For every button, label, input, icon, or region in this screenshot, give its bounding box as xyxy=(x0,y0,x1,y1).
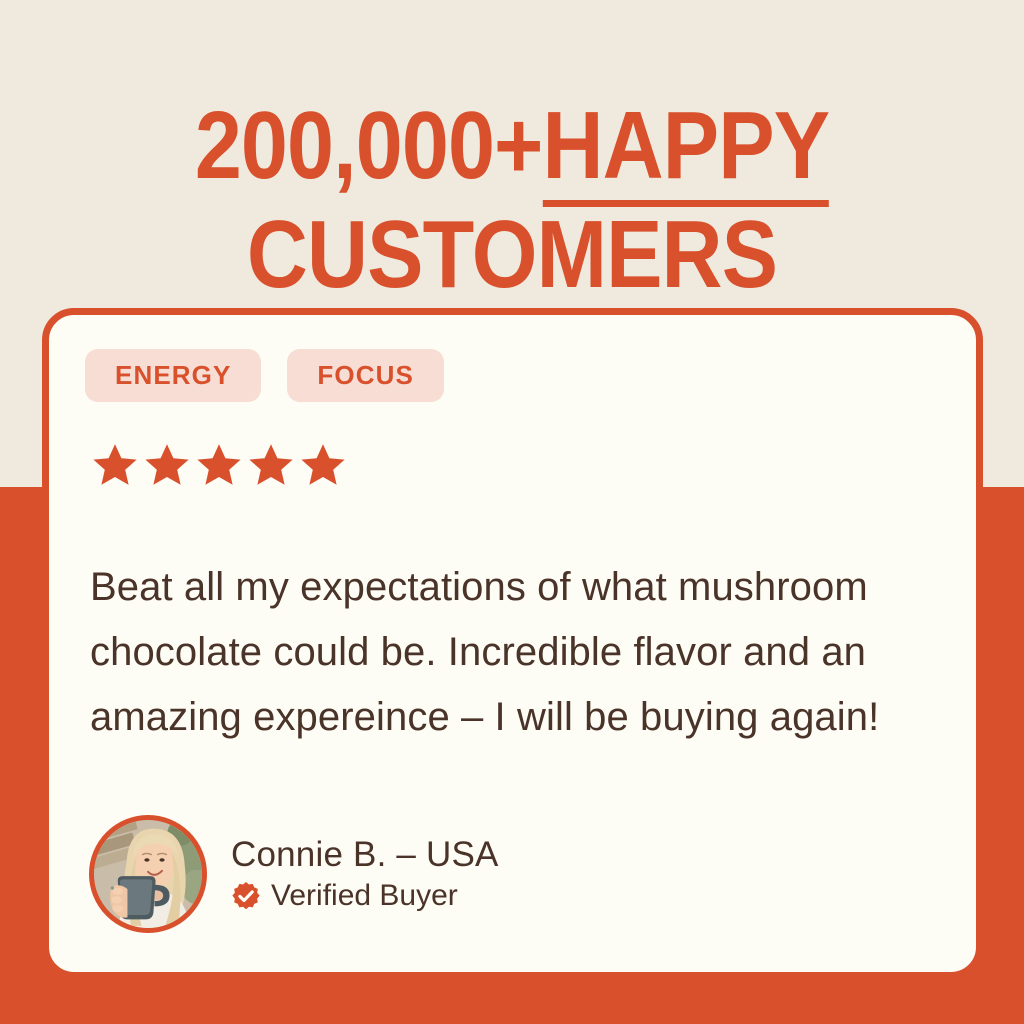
benefit-tag-row: ENERGY FOCUS xyxy=(85,349,444,402)
headline-count: 200,000+ xyxy=(195,98,543,193)
headline-line-1: 200,000+ HAPPY xyxy=(61,98,962,207)
reviewer-meta: Connie B. – USA Verified Buyer xyxy=(231,837,499,912)
headline-happy: HAPPY xyxy=(542,98,829,207)
verified-buyer-badge: Verified Buyer xyxy=(231,881,499,911)
avatar xyxy=(89,815,207,933)
verified-buyer-label: Verified Buyer xyxy=(271,881,458,911)
headline-line-2: CUSTOMERS xyxy=(61,207,962,316)
benefit-tag-energy[interactable]: ENERGY xyxy=(85,349,261,402)
star-icon xyxy=(91,441,139,489)
headline-customers: CUSTOMERS xyxy=(247,207,777,316)
avatar-photo xyxy=(94,820,202,928)
star-icon xyxy=(195,441,243,489)
review-body-text: Beat all my expectations of what mushroo… xyxy=(90,555,970,749)
star-rating xyxy=(91,441,347,489)
review-card: ENERGY FOCUS Beat all my expectations of… xyxy=(42,308,983,979)
benefit-tag-focus[interactable]: FOCUS xyxy=(287,349,444,402)
verified-check-icon xyxy=(231,881,261,911)
page-title: 200,000+ HAPPY CUSTOMERS xyxy=(61,98,962,316)
star-icon xyxy=(247,441,295,489)
promo-canvas: 200,000+ HAPPY CUSTOMERS ENERGY FOCUS xyxy=(0,0,1024,1024)
star-icon xyxy=(143,441,191,489)
star-icon xyxy=(299,441,347,489)
reviewer-block: Connie B. – USA Verified Buyer xyxy=(89,815,499,933)
reviewer-name: Connie B. – USA xyxy=(231,837,499,874)
